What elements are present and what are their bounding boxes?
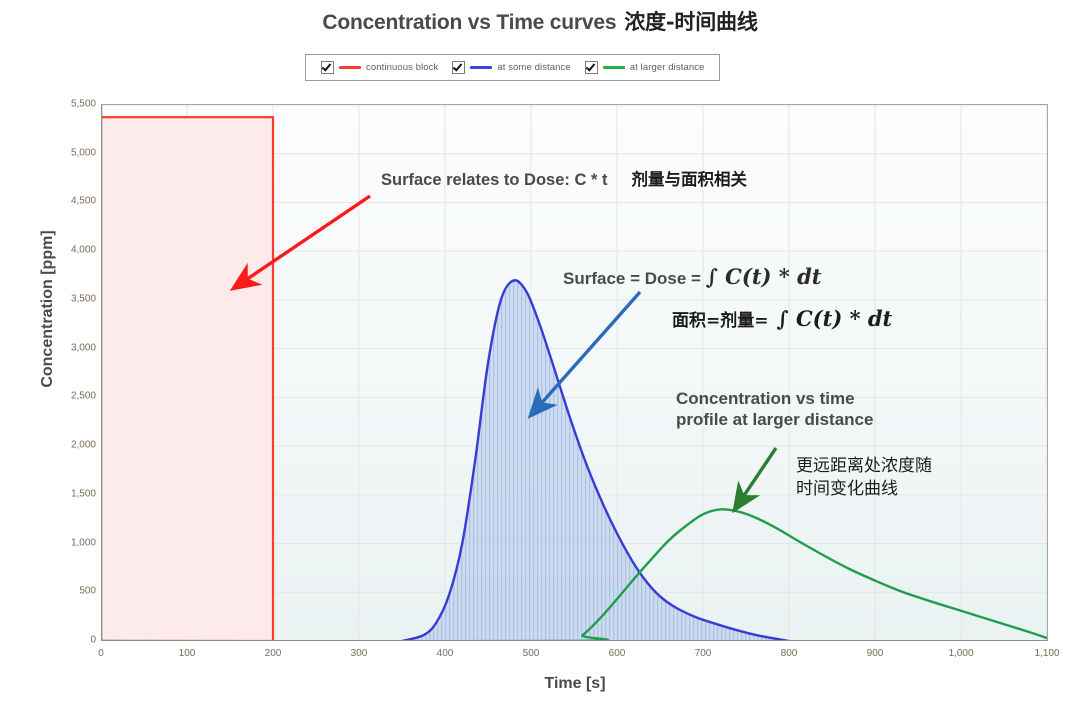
legend-color-swatch <box>470 66 492 69</box>
concentration-vs-time-chart: Concentration vs Time curves浓度-时间曲线 cont… <box>0 0 1080 708</box>
x-tick-label: 300 <box>329 648 389 659</box>
annotation-surface-equals-dose: Surface = Dose = ∫ C(t) * dt <box>563 264 821 290</box>
y-tick-label: 500 <box>50 586 96 597</box>
y-tick-label: 4,000 <box>50 245 96 256</box>
annotation-profile-at-larger-distance-cn: 更远距离处浓度随 时间变化曲线 <box>796 455 932 501</box>
x-axis-tick-labels: 01002003004005006007008009001,0001,100 <box>0 648 1080 668</box>
annotation-text-line1: Concentration vs time <box>676 389 873 410</box>
legend-color-swatch <box>339 66 361 69</box>
x-tick-label: 1,000 <box>931 648 991 659</box>
x-tick-label: 600 <box>587 648 647 659</box>
legend-label: continuous block <box>366 62 438 73</box>
annotation-formula: ∫ C(t) * dt <box>777 306 893 331</box>
x-tick-label: 500 <box>501 648 561 659</box>
chart-legend[interactable]: continuous block at some distance at lar… <box>305 54 720 81</box>
chart-title-cn: 浓度-时间曲线 <box>624 9 757 34</box>
series-area-fill <box>402 280 789 641</box>
y-tick-label: 0 <box>50 635 96 646</box>
annotation-text-cn: 面积=剂量= <box>672 311 769 331</box>
legend-checkbox-icon[interactable] <box>452 61 465 74</box>
y-tick-label: 5,500 <box>50 99 96 110</box>
y-tick-label: 2,000 <box>50 440 96 451</box>
annotation-text-cn: 剂量与面积相关 <box>632 170 748 189</box>
y-tick-label: 2,500 <box>50 391 96 402</box>
chart-title-en: Concentration vs Time curves <box>322 11 616 34</box>
y-tick-label: 5,000 <box>50 147 96 158</box>
legend-entry-at-some-distance[interactable]: at some distance <box>445 61 577 74</box>
x-tick-label: 0 <box>71 648 131 659</box>
x-tick-label: 900 <box>845 648 905 659</box>
annotation-surface-relates-to-dose: Surface relates to Dose: C * t剂量与面积相关 <box>381 170 747 190</box>
legend-entry-continuous-block[interactable]: continuous block <box>314 61 445 74</box>
legend-label: at larger distance <box>630 62 705 73</box>
annotation-formula: ∫ C(t) * dt <box>706 264 822 289</box>
y-tick-label: 3,000 <box>50 342 96 353</box>
y-tick-label: 1,500 <box>50 488 96 499</box>
annotation-text-cn-line2: 时间变化曲线 <box>796 478 932 501</box>
x-tick-label: 800 <box>759 648 819 659</box>
y-axis-tick-labels: 05001,0001,5002,0002,5003,0003,5004,0004… <box>44 0 96 708</box>
y-tick-label: 3,500 <box>50 293 96 304</box>
x-tick-label: 100 <box>157 648 217 659</box>
series-continuous-block <box>101 117 273 641</box>
x-tick-label: 200 <box>243 648 303 659</box>
annotation-text-cn-line1: 更远距离处浓度随 <box>796 455 932 478</box>
annotation-text-line2: profile at larger distance <box>676 410 873 431</box>
series-layer <box>101 117 1047 641</box>
series-at-some-distance <box>402 280 789 641</box>
annotation-surface-equals-dose-cn: 面积=剂量=∫ C(t) * dt <box>672 306 892 332</box>
legend-checkbox-icon[interactable] <box>585 61 598 74</box>
x-tick-label: 400 <box>415 648 475 659</box>
legend-color-swatch <box>603 66 625 69</box>
chart-title: Concentration vs Time curves浓度-时间曲线 <box>0 6 1080 36</box>
annotation-text-en: Surface relates to Dose: C * t <box>381 171 608 189</box>
legend-checkbox-icon[interactable] <box>321 61 334 74</box>
block-rect <box>101 117 273 641</box>
y-tick-label: 4,500 <box>50 196 96 207</box>
x-tick-label: 1,100 <box>1017 648 1077 659</box>
legend-entry-at-larger-distance[interactable]: at larger distance <box>578 61 712 74</box>
legend-label: at some distance <box>497 62 570 73</box>
annotation-text-en: Surface = Dose = <box>563 269 701 288</box>
annotation-profile-at-larger-distance: Concentration vs time profile at larger … <box>676 389 873 430</box>
x-tick-label: 700 <box>673 648 733 659</box>
x-axis-title: Time [s] <box>100 675 1050 693</box>
y-tick-label: 1,000 <box>50 537 96 548</box>
